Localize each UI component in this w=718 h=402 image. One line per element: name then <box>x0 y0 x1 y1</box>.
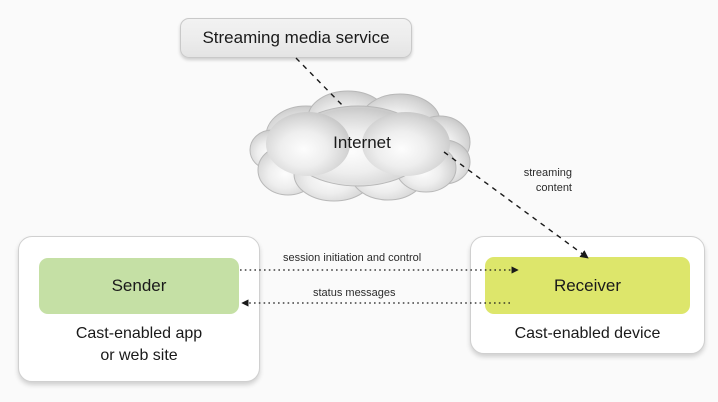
edge-label-status-messages: status messages <box>313 287 396 299</box>
node-receiver[interactable]: Receiver <box>485 257 690 314</box>
node-sender[interactable]: Sender <box>39 258 239 314</box>
edge-label-session-initiation: session initiation and control <box>283 252 421 264</box>
streaming-media-service-label: Streaming media service <box>202 28 389 48</box>
node-streaming-media-service[interactable]: Streaming media service <box>180 18 412 58</box>
node-receiver-container[interactable]: Receiver Cast-enabled device <box>470 236 705 354</box>
streaming-content-line2: content <box>492 181 572 196</box>
node-sender-container[interactable]: Sender Cast-enabled app or web site <box>18 236 260 382</box>
receiver-caption-line1: Cast-enabled device <box>515 323 661 345</box>
receiver-label: Receiver <box>554 276 621 296</box>
sender-label: Sender <box>112 276 167 296</box>
receiver-caption: Cast-enabled device <box>515 323 661 345</box>
edge-label-streaming-content: streaming content <box>492 166 572 196</box>
sender-caption-line1: Cast-enabled app <box>76 323 202 345</box>
diagram-canvas: Streaming media service <box>0 0 718 402</box>
internet-cloud-label: Internet <box>248 84 472 202</box>
sender-caption: Cast-enabled app or web site <box>76 323 202 366</box>
streaming-content-line1: streaming <box>492 166 572 181</box>
sender-caption-line2: or web site <box>76 345 202 367</box>
node-internet-cloud[interactable]: Internet <box>248 84 472 202</box>
